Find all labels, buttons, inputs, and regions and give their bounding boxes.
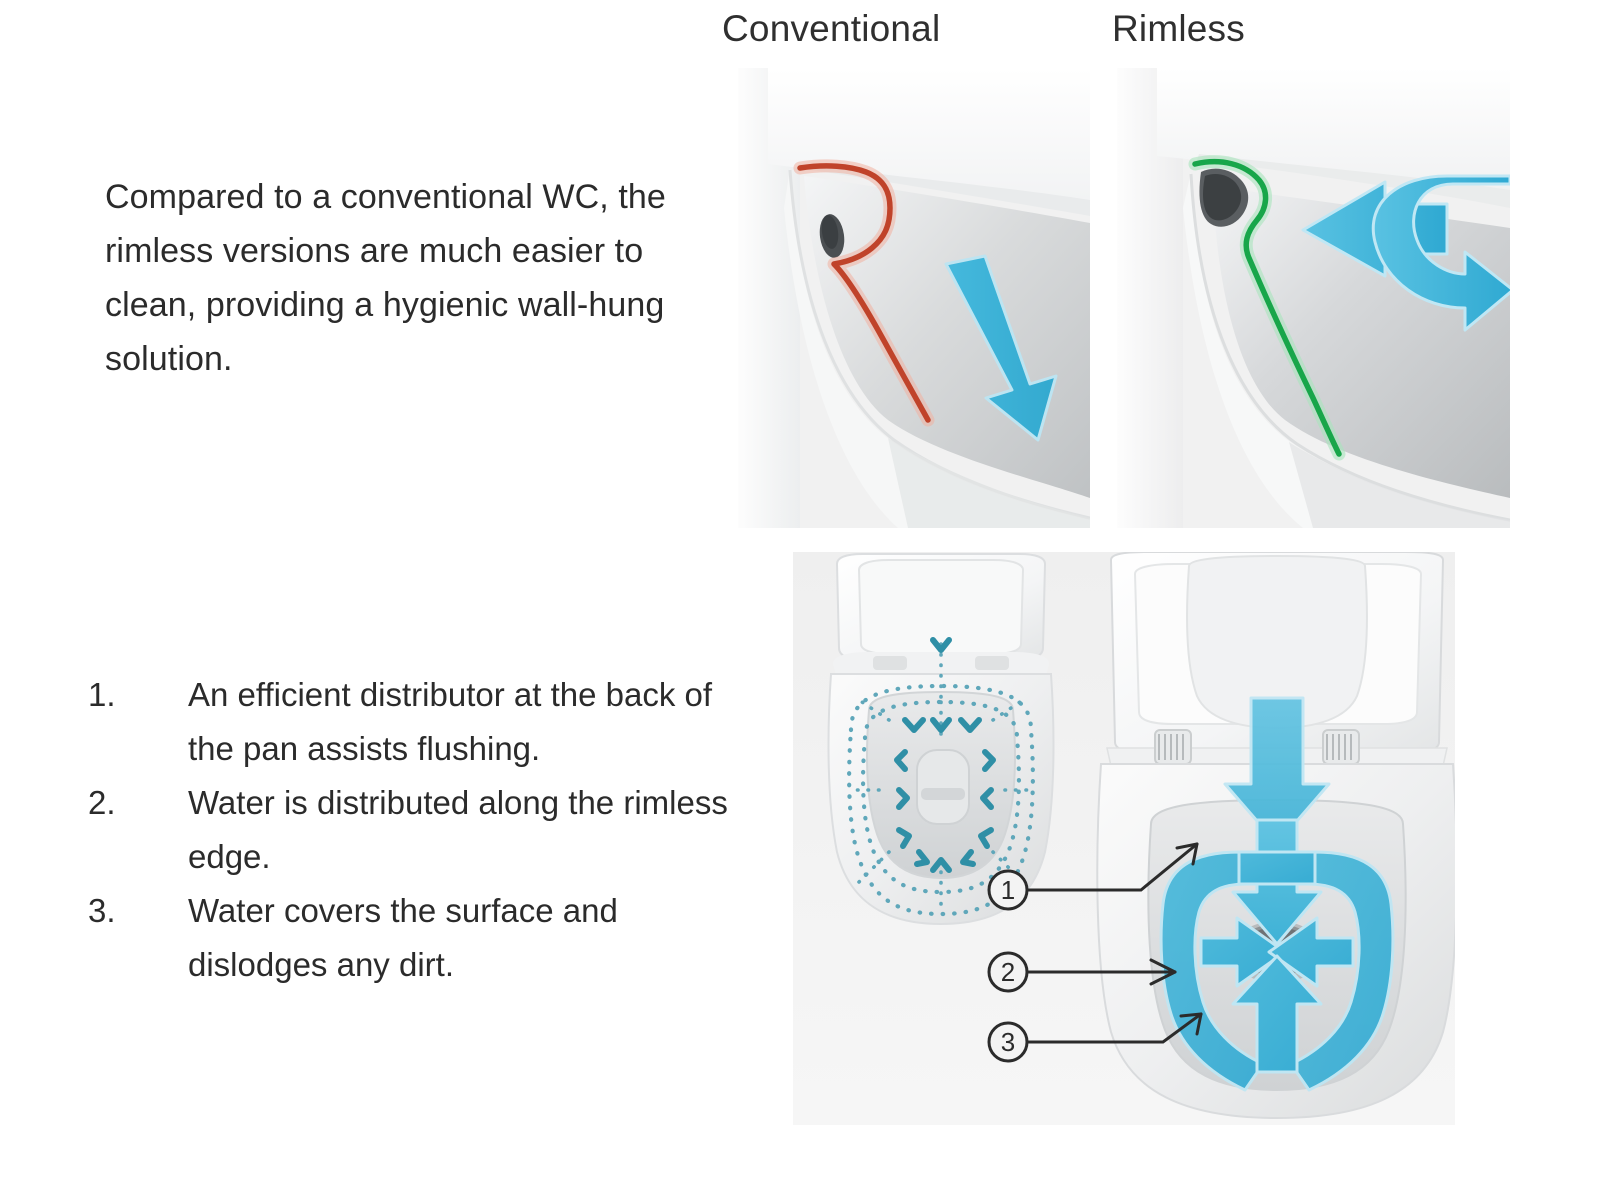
callout-marker-2: 2 bbox=[1001, 957, 1015, 987]
callout-marker-3: 3 bbox=[1001, 1027, 1015, 1057]
figure-rimless-cross-section bbox=[1117, 68, 1510, 528]
heading-rimless: Rimless bbox=[1112, 8, 1245, 50]
callout-marker-1: 1 bbox=[1001, 875, 1015, 905]
list-item-text: An efficient distributor at the back of … bbox=[188, 668, 728, 776]
list-item: 1. An efficient distributor at the back … bbox=[88, 668, 728, 776]
top-view-left-unit bbox=[829, 554, 1054, 924]
list-item: 2. Water is distributed along the rimles… bbox=[88, 776, 728, 884]
intro-paragraph: Compared to a conventional WC, the rimle… bbox=[105, 170, 730, 386]
conventional-illustration bbox=[738, 68, 1090, 528]
callout-markers: 1 2 3 bbox=[989, 871, 1027, 1061]
heading-conventional: Conventional bbox=[722, 8, 940, 50]
page-root: Compared to a conventional WC, the rimle… bbox=[0, 0, 1600, 1200]
figure-conventional-cross-section bbox=[738, 68, 1090, 528]
list-item: 3. Water covers the surface and dislodge… bbox=[88, 884, 728, 992]
figure-top-view-flow: 1 2 3 bbox=[793, 552, 1455, 1125]
rimless-illustration bbox=[1117, 68, 1510, 528]
list-item-number: 2. bbox=[88, 776, 188, 830]
top-view-illustration: 1 2 3 bbox=[793, 552, 1455, 1125]
list-item-number: 3. bbox=[88, 884, 188, 938]
list-item-text: Water is distributed along the rimless e… bbox=[188, 776, 728, 884]
numbered-steps-list: 1. An efficient distributor at the back … bbox=[88, 668, 728, 992]
list-item-text: Water covers the surface and dislodges a… bbox=[188, 884, 728, 992]
top-view-right-unit bbox=[1097, 552, 1455, 1118]
list-item-number: 1. bbox=[88, 668, 188, 722]
flow-arrow-ring-top bbox=[1239, 852, 1315, 884]
